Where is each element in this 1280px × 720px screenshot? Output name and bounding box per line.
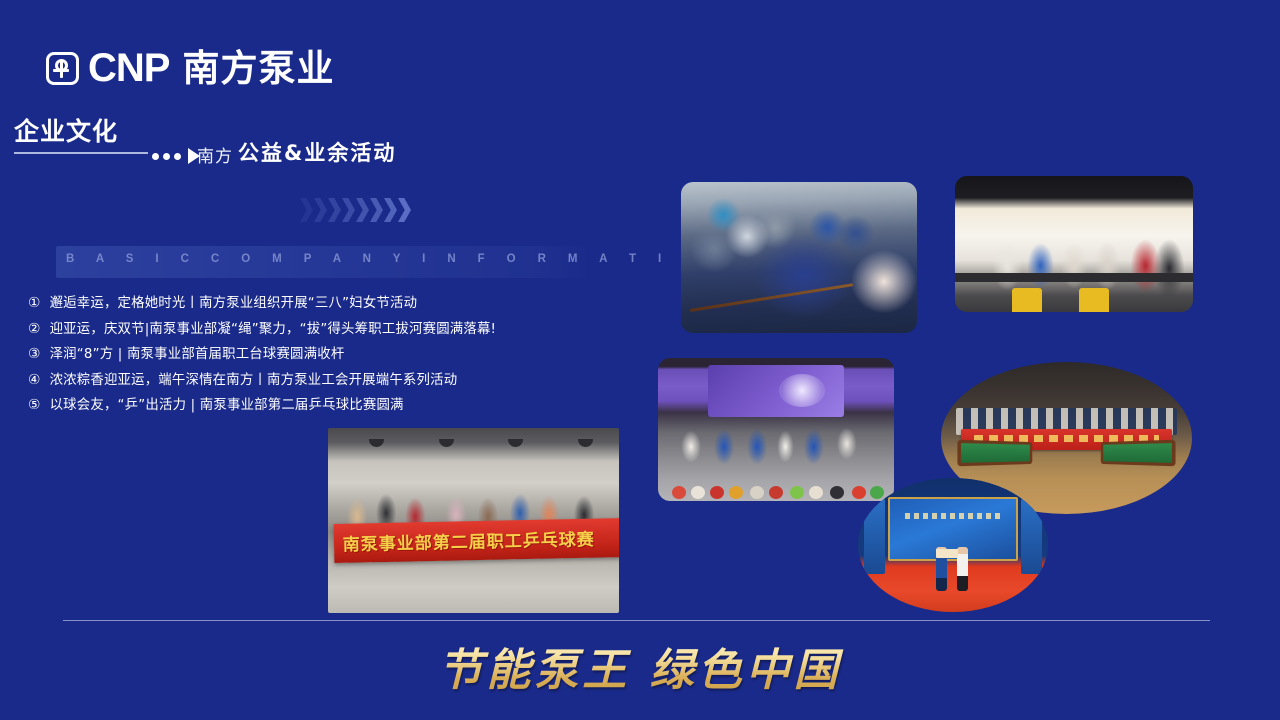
pool-table-shape bbox=[957, 440, 1032, 467]
slide-root: CNP 南方泵业 企业文化 南方 公益&业余活动 B A S I C C O M… bbox=[0, 0, 1280, 720]
logo-chinese-text: 南方泵业 bbox=[182, 50, 334, 87]
photo-tug-of-war bbox=[681, 182, 917, 333]
list-item-label: 泽润“8”方 | 南泵事业部首届职工台球赛圆满收杆 bbox=[50, 342, 345, 368]
list-item: ③ 泽润“8”方 | 南泵事业部首届职工台球赛圆满收杆 bbox=[28, 342, 628, 368]
list-item-number: ⑤ bbox=[28, 393, 41, 419]
logo-latin-text: CNP bbox=[88, 48, 169, 88]
certificate-shape bbox=[936, 549, 958, 558]
list-item: ⑤ 以球会友，“乒”出活力 | 南泵事业部第二届乒乓球比赛圆满 bbox=[28, 393, 628, 419]
slide-header: 企业文化 南方 公益&业余活动 bbox=[14, 112, 434, 170]
chair-shape bbox=[1079, 288, 1109, 312]
list-item-number: ① bbox=[28, 291, 41, 317]
dots-arrow-icon bbox=[152, 148, 200, 164]
header-prefix: 南方 bbox=[197, 142, 233, 167]
table-shape bbox=[955, 273, 1193, 282]
pool-table-shape bbox=[1100, 440, 1175, 467]
header-underline bbox=[14, 152, 148, 154]
stage-banner-shape bbox=[1021, 499, 1042, 574]
chair-shape bbox=[1012, 288, 1042, 312]
photo-pingpong-group: 南泵事业部第二届职工乒乓球赛 bbox=[328, 428, 619, 613]
list-item-label: 邂逅幸运，定格她时光丨南方泵业组织开展“三八”妇女节活动 bbox=[50, 291, 418, 317]
list-item-label: 以球会友，“乒”出活力 | 南泵事业部第二届乒乓球比赛圆满 bbox=[50, 393, 404, 419]
list-item-number: ④ bbox=[28, 368, 41, 394]
list-item: ④ 浓浓粽香迎亚运，端午深情在南方丨南方泵业工会开展端午系列活动 bbox=[28, 368, 628, 394]
brand-logo: CNP 南方泵业 bbox=[46, 48, 334, 88]
cnp-logo-mark-icon bbox=[46, 52, 79, 85]
banner-text: 南泵事业部第二届职工乒乓球赛 bbox=[342, 525, 594, 555]
header-subtitle: 公益&业余活动 bbox=[238, 137, 396, 167]
list-item-number: ③ bbox=[28, 342, 41, 368]
footer-slogan: 节能泵王 绿色中国 bbox=[0, 634, 1280, 698]
page-title: 企业文化 bbox=[14, 112, 118, 148]
logo-bar-shape bbox=[53, 69, 69, 72]
list-item-label: 浓浓粽香迎亚运，端午深情在南方丨南方泵业工会开展端午系列活动 bbox=[50, 368, 458, 394]
watermark-text: B A S I C C O M P A N Y I N F O R M A T … bbox=[66, 253, 596, 265]
photo-award-ceremony bbox=[858, 478, 1048, 612]
stage-banner-shape bbox=[864, 499, 885, 574]
list-item-number: ② bbox=[28, 317, 41, 343]
red-banner-shape: 南泵事业部第二届职工乒乓球赛 bbox=[333, 517, 619, 562]
photo-kitchen-activity bbox=[955, 176, 1193, 312]
person-shape bbox=[957, 547, 968, 591]
footer-divider bbox=[63, 620, 1210, 621]
list-item: ① 邂逅幸运，定格她时光丨南方泵业组织开展“三八”妇女节活动 bbox=[28, 291, 628, 317]
led-screen-shape bbox=[708, 365, 845, 416]
list-item: ② 迎亚运，庆双节|南泵事业部凝“绳”聚力，“拔”得头筹职工拔河赛圆满落幕! bbox=[28, 317, 628, 343]
chevrons-right-icon bbox=[300, 198, 411, 222]
list-item-label: 迎亚运，庆双节|南泵事业部凝“绳”聚力，“拔”得头筹职工拔河赛圆满落幕! bbox=[50, 317, 497, 343]
activity-list: ① 邂逅幸运，定格她时光丨南方泵业组织开展“三八”妇女节活动 ② 迎亚运，庆双节… bbox=[28, 291, 628, 419]
